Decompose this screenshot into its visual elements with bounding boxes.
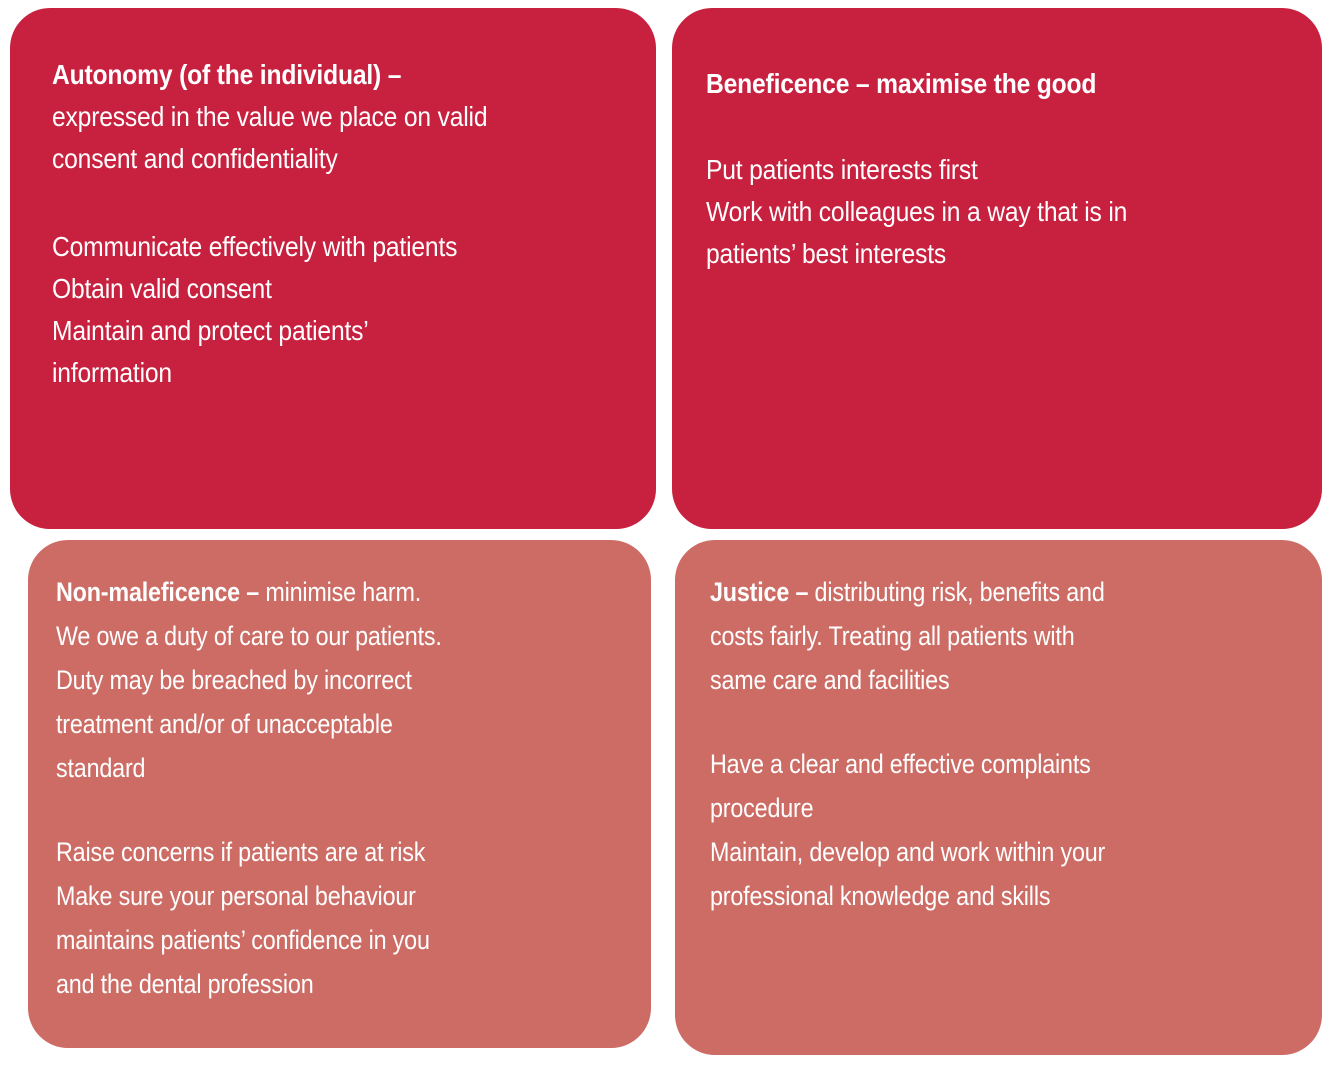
quadrant-justice: Justice – distributing risk, benefits an… (675, 540, 1322, 1055)
non-maleficence-content: Non-maleficence – minimise harm. We owe … (56, 570, 628, 1006)
autonomy-body-line-1: Communicate effectively with patients (52, 226, 627, 268)
justice-heading-bold: Justice – (710, 577, 808, 607)
justice-heading-cont-2: same care and facilities (710, 658, 1299, 702)
justice-body-block: Have a clear and effective complaints pr… (710, 742, 1299, 918)
quadrant-autonomy: Autonomy (of the individual) – expressed… (10, 8, 656, 529)
autonomy-body-line-3: Maintain and protect patients’ (52, 310, 627, 352)
non-maleficence-heading-cont-4: standard (56, 746, 628, 790)
non-maleficence-heading-bold: Non-maleficence – (56, 577, 259, 607)
justice-heading-line: Justice – distributing risk, benefits an… (710, 570, 1299, 614)
justice-heading-cont-1: costs fairly. Treating all patients with (710, 614, 1299, 658)
non-maleficence-heading-cont-1: We owe a duty of care to our patients. (56, 614, 628, 658)
justice-spacer (710, 702, 1299, 742)
beneficence-body-line-2: Work with colleagues in a way that is in (706, 191, 1293, 233)
justice-body-line-4: professional knowledge and skills (710, 874, 1299, 918)
beneficence-heading: Beneficence – maximise the good (706, 63, 1293, 105)
non-maleficence-heading-regular: minimise harm. (259, 577, 421, 607)
autonomy-body-block: Communicate effectively with patients Ob… (52, 226, 627, 394)
justice-body-line-3: Maintain, develop and work within your (710, 830, 1299, 874)
beneficence-body-line-1: Put patients interests first (706, 149, 1293, 191)
beneficence-content: Beneficence – maximise the good Put pati… (706, 63, 1293, 275)
beneficence-body-block: Put patients interests first Work with c… (706, 149, 1293, 275)
justice-heading-regular: distributing risk, benefits and (808, 577, 1104, 607)
autonomy-heading-line-1: expressed in the value we place on valid (52, 96, 627, 138)
quadrant-beneficence: Beneficence – maximise the good Put pati… (672, 8, 1322, 529)
non-maleficence-body-line-1: Raise concerns if patients are at risk (56, 830, 628, 874)
justice-body-line-1: Have a clear and effective complaints (710, 742, 1299, 786)
autonomy-body-line-4: information (52, 352, 627, 394)
non-maleficence-heading-line: Non-maleficence – minimise harm. (56, 570, 628, 614)
non-maleficence-body-line-4: and the dental profession (56, 962, 628, 1006)
non-maleficence-heading-cont-3: treatment and/or of unacceptable (56, 702, 628, 746)
beneficence-heading-block: Beneficence – maximise the good (706, 63, 1293, 105)
autonomy-heading-line-2: consent and confidentiality (52, 138, 627, 180)
justice-heading-block: Justice – distributing risk, benefits an… (710, 570, 1299, 702)
autonomy-content: Autonomy (of the individual) – expressed… (52, 54, 627, 394)
justice-content: Justice – distributing risk, benefits an… (710, 570, 1299, 918)
non-maleficence-heading-block: Non-maleficence – minimise harm. We owe … (56, 570, 628, 790)
autonomy-heading-block: Autonomy (of the individual) – expressed… (52, 54, 627, 180)
beneficence-spacer (706, 105, 1293, 149)
non-maleficence-body-block: Raise concerns if patients are at risk M… (56, 830, 628, 1006)
quadrant-non-maleficence: Non-maleficence – minimise harm. We owe … (28, 540, 651, 1048)
non-maleficence-body-line-2: Make sure your personal behaviour (56, 874, 628, 918)
justice-body-line-2: procedure (710, 786, 1299, 830)
non-maleficence-heading-cont-2: Duty may be breached by incorrect (56, 658, 628, 702)
ethics-principles-diagram: Autonomy (of the individual) – expressed… (0, 0, 1331, 1070)
non-maleficence-spacer (56, 790, 628, 830)
beneficence-body-line-3: patients’ best interests (706, 233, 1293, 275)
autonomy-spacer (52, 180, 627, 226)
non-maleficence-body-line-3: maintains patients’ confidence in you (56, 918, 628, 962)
autonomy-heading: Autonomy (of the individual) – (52, 54, 627, 96)
autonomy-body-line-2: Obtain valid consent (52, 268, 627, 310)
